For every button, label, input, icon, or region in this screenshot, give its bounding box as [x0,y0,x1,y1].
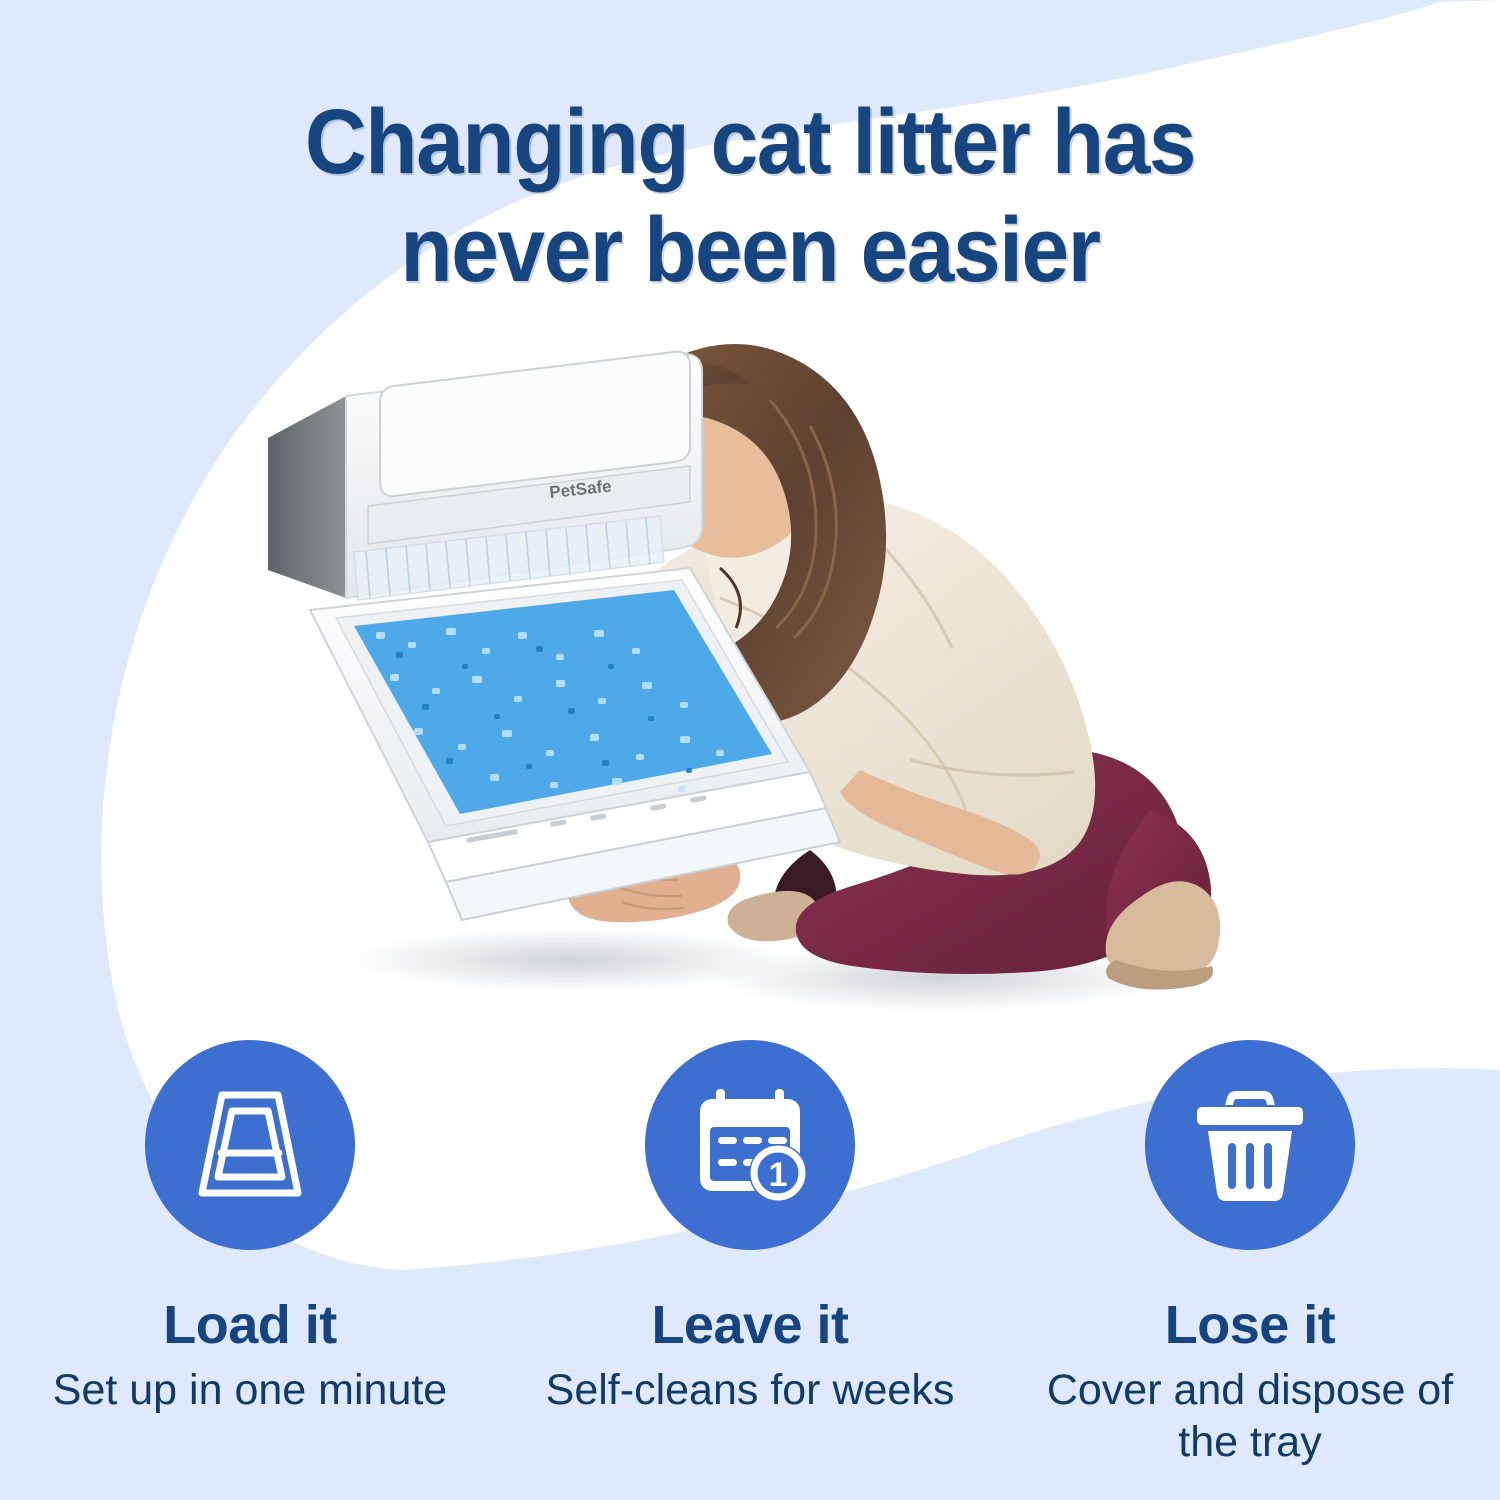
svg-text:1: 1 [769,1156,788,1194]
calendar-one-icon-circle: 1 [645,1040,855,1250]
feature-row: Load it Set up in one minute [0,1040,1500,1468]
feature-load-it: Load it Set up in one minute [0,1040,500,1468]
trash-can-icon-circle [1145,1040,1355,1250]
hero-photo: PetSafe [250,330,1230,1030]
feature-lose-it: Lose it Cover and dispose of the tray [1000,1040,1500,1468]
hood-side-panel [268,396,346,598]
hero-illustration: PetSafe [250,330,1230,1030]
trash-can-icon [1186,1081,1314,1209]
feature-description: Set up in one minute [53,1364,447,1416]
litter-tray-icon [186,1081,314,1209]
feature-description: Self-cleans for weeks [546,1364,955,1416]
feature-title: Leave it [651,1296,848,1354]
feature-title: Lose it [1165,1296,1336,1354]
floor-shadow-device [350,928,790,992]
marketing-infographic: Changing cat litter has never been easie… [0,0,1500,1500]
feature-title: Load it [163,1296,336,1354]
calendar-one-icon: 1 [686,1081,814,1209]
feature-leave-it: 1 Leave it Self-cleans for weeks [500,1040,1000,1468]
litter-tray-icon-circle [145,1040,355,1250]
feature-description: Cover and dispose of the tray [1040,1364,1460,1468]
